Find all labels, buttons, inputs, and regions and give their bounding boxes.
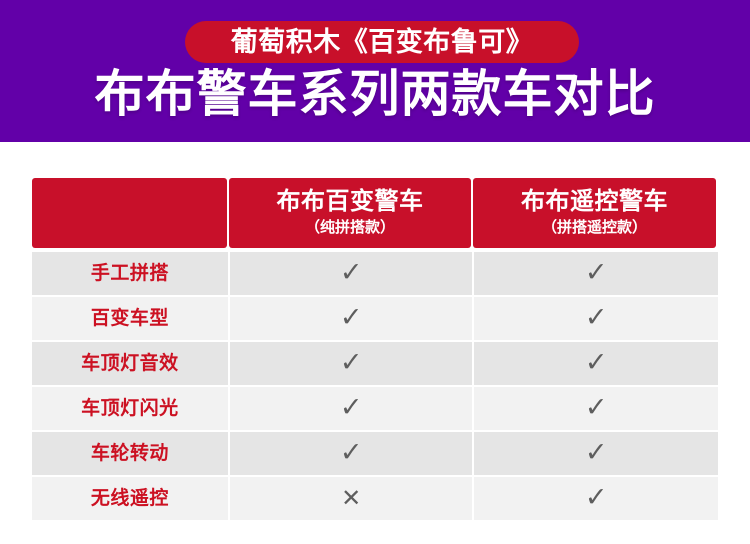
check-icon: ✓ (340, 349, 363, 376)
header-cell-feature (32, 178, 227, 248)
row-label-cell: 百变车型 (32, 297, 228, 340)
feature-label: 百变车型 (91, 309, 169, 328)
check-icon: ✓ (585, 349, 608, 376)
check-icon: ✓ (340, 439, 363, 466)
comparison-table: 布布百变警车 （纯拼搭款） 布布遥控警车 （拼搭遥控款） 手工拼搭 ✓ ✓ 百变… (32, 178, 718, 520)
check-icon: ✓ (585, 394, 608, 421)
cross-icon: ✕ (341, 487, 361, 511)
value-cell-product-2: ✓ (474, 477, 718, 520)
table-row: 手工拼搭 ✓ ✓ (32, 252, 718, 295)
check-icon: ✓ (340, 259, 363, 286)
value-cell-product-2: ✓ (474, 297, 718, 340)
feature-label: 车顶灯音效 (81, 354, 179, 373)
check-icon: ✓ (340, 394, 363, 421)
feature-label: 车轮转动 (91, 444, 169, 463)
value-cell-product-1: ✓ (230, 252, 473, 295)
table-row: 百变车型 ✓ ✓ (32, 297, 718, 340)
header-cell-product-1: 布布百变警车 （纯拼搭款） (229, 178, 471, 248)
table-row: 车顶灯闪光 ✓ ✓ (32, 387, 718, 430)
value-cell-product-2: ✓ (474, 342, 718, 385)
value-cell-product-1: ✓ (230, 387, 473, 430)
value-cell-product-2: ✓ (474, 252, 718, 295)
header-product-1-subtitle: （纯拼搭款） (305, 217, 395, 239)
value-cell-product-1: ✓ (230, 297, 473, 340)
check-icon: ✓ (585, 304, 608, 331)
value-cell-product-2: ✓ (474, 432, 718, 475)
brand-badge: 葡萄积木《百变布鲁可》 (185, 21, 579, 63)
value-cell-product-1: ✕ (230, 477, 473, 520)
check-icon: ✓ (585, 259, 608, 286)
check-icon: ✓ (585, 484, 608, 511)
table-row: 车轮转动 ✓ ✓ (32, 432, 718, 475)
table-header-row: 布布百变警车 （纯拼搭款） 布布遥控警车 （拼搭遥控款） (32, 178, 718, 248)
row-label-cell: 车顶灯音效 (32, 342, 228, 385)
header-product-2-subtitle: （拼搭遥控款） (542, 217, 647, 239)
value-cell-product-2: ✓ (474, 387, 718, 430)
row-label-cell: 无线遥控 (32, 477, 228, 520)
value-cell-product-1: ✓ (230, 432, 473, 475)
header-banner: 葡萄积木《百变布鲁可》 布布警车系列两款车对比 (0, 0, 750, 142)
table-row: 无线遥控 ✕ ✓ (32, 477, 718, 520)
feature-label: 手工拼搭 (91, 264, 169, 283)
page-title: 布布警车系列两款车对比 (0, 63, 750, 125)
check-icon: ✓ (340, 304, 363, 331)
feature-label: 车顶灯闪光 (81, 399, 179, 418)
header-product-1-title: 布布百变警车 (277, 187, 424, 217)
header-product-2-title: 布布遥控警车 (521, 187, 668, 217)
value-cell-product-1: ✓ (230, 342, 473, 385)
check-icon: ✓ (585, 439, 608, 466)
table-row: 车顶灯音效 ✓ ✓ (32, 342, 718, 385)
header-cell-product-2: 布布遥控警车 （拼搭遥控款） (473, 178, 716, 248)
row-label-cell: 车轮转动 (32, 432, 228, 475)
feature-label: 无线遥控 (91, 489, 169, 508)
brand-badge-label: 葡萄积木《百变布鲁可》 (231, 29, 534, 56)
row-label-cell: 车顶灯闪光 (32, 387, 228, 430)
row-label-cell: 手工拼搭 (32, 252, 228, 295)
